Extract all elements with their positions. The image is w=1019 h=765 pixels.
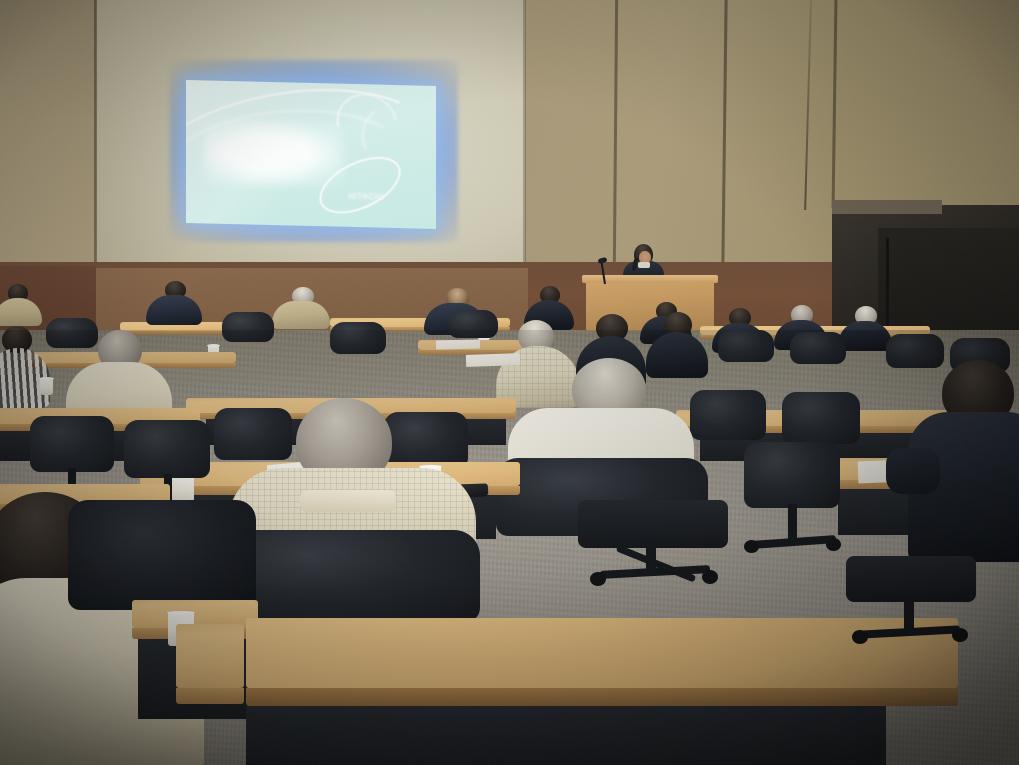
attendee-background-navy-left <box>146 281 202 323</box>
presenter-collar <box>638 262 650 268</box>
attendee-torso <box>272 301 330 329</box>
wall-seam-1 <box>94 0 97 268</box>
conference-room-photo: HITACHI <box>0 0 1019 765</box>
projection-screen: HITACHI <box>186 80 436 229</box>
wall-seam-2 <box>523 0 526 266</box>
alcove-interior <box>878 228 1019 340</box>
alcove-lintel <box>832 200 942 214</box>
wall-panel-far-left <box>0 0 96 268</box>
attendee-torso <box>0 298 42 326</box>
slide-logo-text: HITACHI <box>348 192 384 202</box>
attendee-torso <box>146 295 202 325</box>
floor-shading <box>0 330 1019 765</box>
attendee-background-tan <box>272 287 330 327</box>
attendee-background-left-edge <box>0 284 42 324</box>
